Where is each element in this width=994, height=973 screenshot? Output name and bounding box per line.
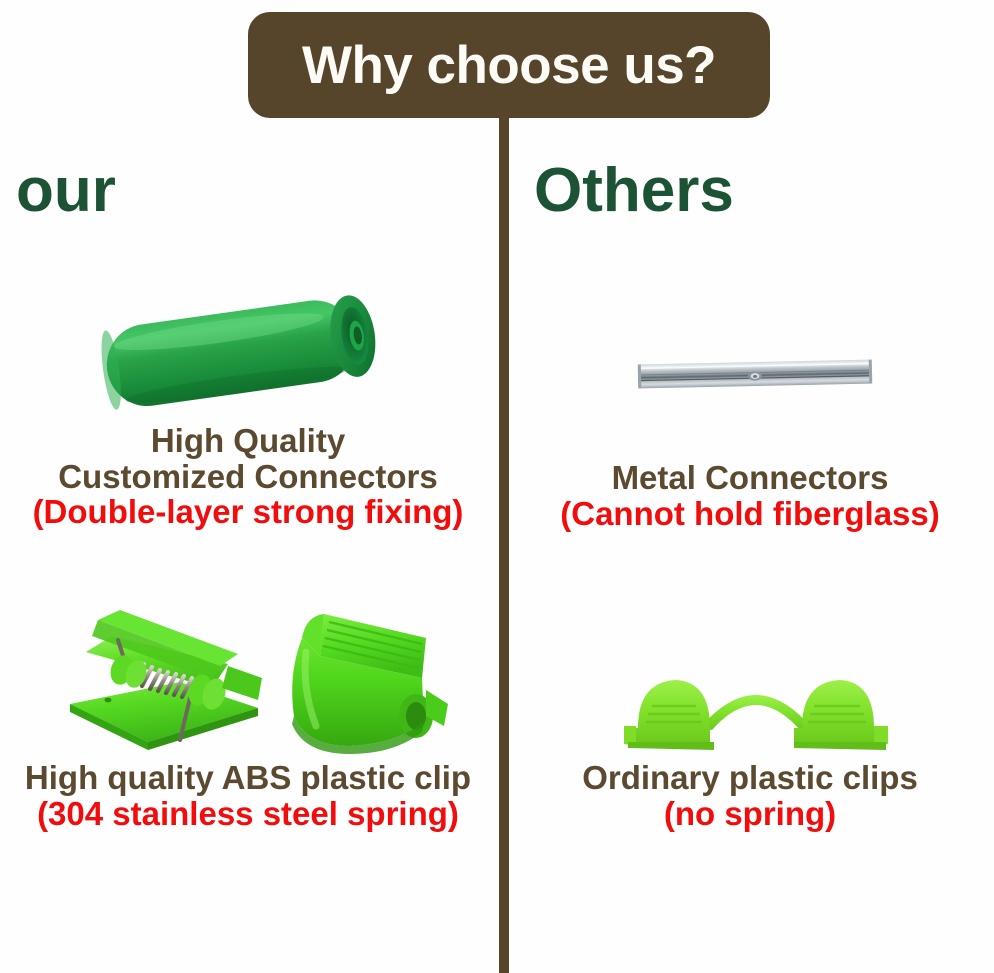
caption-line-1: High Quality [0,423,496,459]
caption-line-2: Customized Connectors [0,459,496,495]
green-connector-image [92,278,402,426]
caption-left-top: High Quality Customized Connectors (Doub… [0,423,496,530]
caption-line-1: High quality ABS plastic clip [0,760,496,796]
caption-line-1: Ordinary plastic clips [506,760,994,796]
abs-clip-closed-image [276,604,452,756]
abs-clip-open-image [62,592,284,764]
caption-line-1: Metal Connectors [506,460,994,496]
caption-highlight: (Double-layer strong fixing) [0,494,496,530]
column-heading-our: our [16,160,116,222]
caption-left-bottom: High quality ABS plastic clip (304 stain… [0,760,496,831]
column-divider [499,112,509,973]
comparison-infographic: Why choose us? our Others [0,0,994,973]
ordinary-clips-image [614,656,898,768]
column-heading-others: Others [534,160,734,222]
header-banner: Why choose us? [248,12,770,118]
caption-highlight: (Cannot hold fiberglass) [506,496,994,532]
caption-right-bottom: Ordinary plastic clips (no spring) [506,760,994,831]
caption-highlight: (no spring) [506,796,994,832]
metal-connector-image [636,350,874,398]
caption-right-top: Metal Connectors (Cannot hold fiberglass… [506,460,994,531]
caption-highlight: (304 stainless steel spring) [0,796,496,832]
banner-title: Why choose us? [302,39,716,92]
